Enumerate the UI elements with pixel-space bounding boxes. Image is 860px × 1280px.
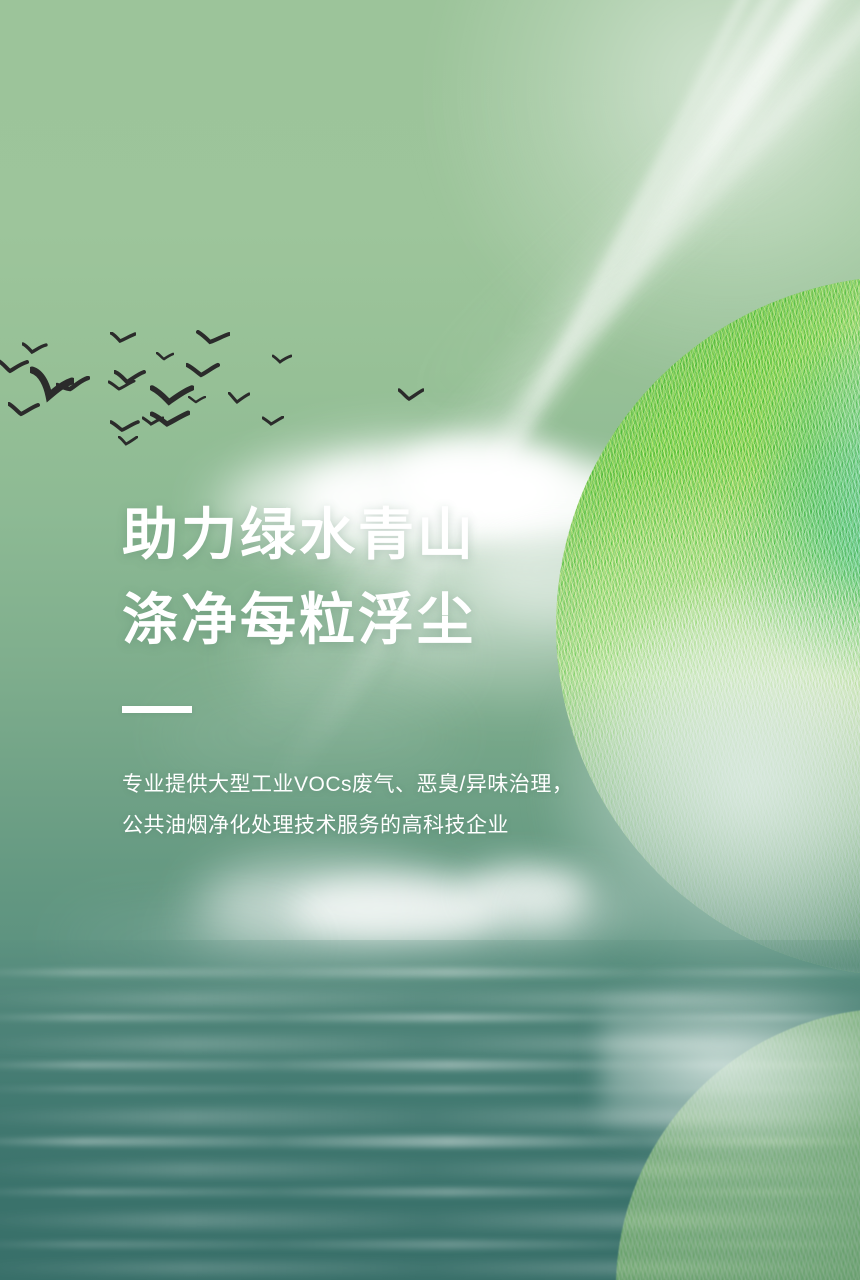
subtitle-line-1: 专业提供大型工业VOCs废气、恶臭/异味治理， [122,765,682,806]
subtitle-line-2: 公共油烟净化处理技术服务的高科技企业 [122,806,682,847]
headline-line-2: 涤净每粒浮尘 [122,577,682,662]
reflection-mist [600,980,860,1150]
poster-canvas: 助力绿水青山 涤净每粒浮尘 专业提供大型工业VOCs废气、恶臭/异味治理， 公共… [0,0,860,1280]
headline-line-1: 助力绿水青山 [122,492,682,577]
poster-text-block: 助力绿水青山 涤净每粒浮尘 专业提供大型工业VOCs废气、恶臭/异味治理， 公共… [122,492,682,847]
decorative-divider [122,706,192,713]
flying-birds-icon [0,330,470,470]
